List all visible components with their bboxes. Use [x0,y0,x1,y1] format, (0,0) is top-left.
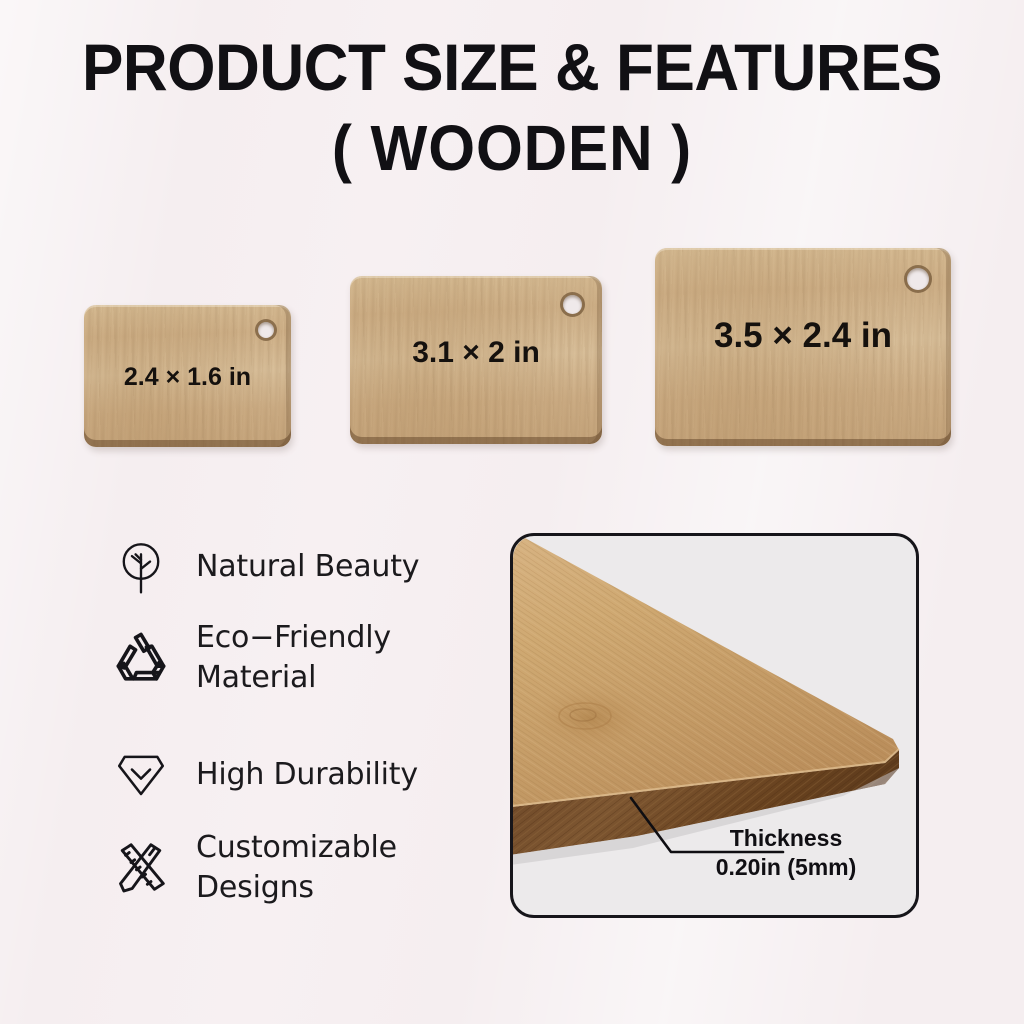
tree-icon [104,530,178,604]
size-tag-medium: 3.1 × 2 in [350,276,602,444]
size-tag-large: 3.5 × 2.4 in [655,248,951,446]
thickness-callout: Thickness 0.20in (5mm) [666,824,906,882]
feature-label-customizable-designs: Customizable Designs [196,828,397,907]
thickness-panel: Thickness 0.20in (5mm) [510,533,919,918]
hanging-hole-icon [907,268,929,290]
size-tag-medium-label: 3.1 × 2 in [350,336,602,370]
feature-item-natural-beauty: Natural Beauty [104,530,419,604]
page-title-line-1: PRODUCT SIZE & FEATURES [31,34,994,100]
size-tag-small-label: 2.4 × 1.6 in [84,363,291,392]
feature-label-eco-friendly-line-2: Material [196,658,391,698]
feature-item-eco-friendly: Eco−Friendly Material [104,618,391,697]
hanging-hole-icon [563,295,582,314]
feature-label-customizable-line-1: Customizable [196,828,397,868]
feature-label-eco-friendly-line-1: Eco−Friendly [196,618,391,658]
feature-label-customizable-line-2: Designs [196,868,397,908]
feature-item-customizable-designs: Customizable Designs [104,828,397,907]
recycle-icon [104,621,178,695]
size-tag-large-label: 3.5 × 2.4 in [655,316,951,356]
thickness-callout-line-1: Thickness [666,824,906,853]
hanging-hole-icon [258,322,274,338]
feature-item-high-durability: High Durability [104,738,418,812]
page-title: PRODUCT SIZE & FEATURES ( WOODEN ) [0,34,1024,180]
thickness-callout-line-2: 0.20in (5mm) [666,853,906,882]
size-tag-small: 2.4 × 1.6 in [84,305,291,447]
feature-label-high-durability: High Durability [196,755,418,795]
feature-label-eco-friendly: Eco−Friendly Material [196,618,391,697]
feature-label-natural-beauty: Natural Beauty [196,547,419,587]
ruler-pencil-icon [104,831,178,905]
page-title-line-2: ( WOODEN ) [31,116,994,180]
diamond-check-icon [104,738,178,812]
infographic-page: PRODUCT SIZE & FEATURES ( WOODEN ) 2.4 ×… [0,0,1024,1024]
